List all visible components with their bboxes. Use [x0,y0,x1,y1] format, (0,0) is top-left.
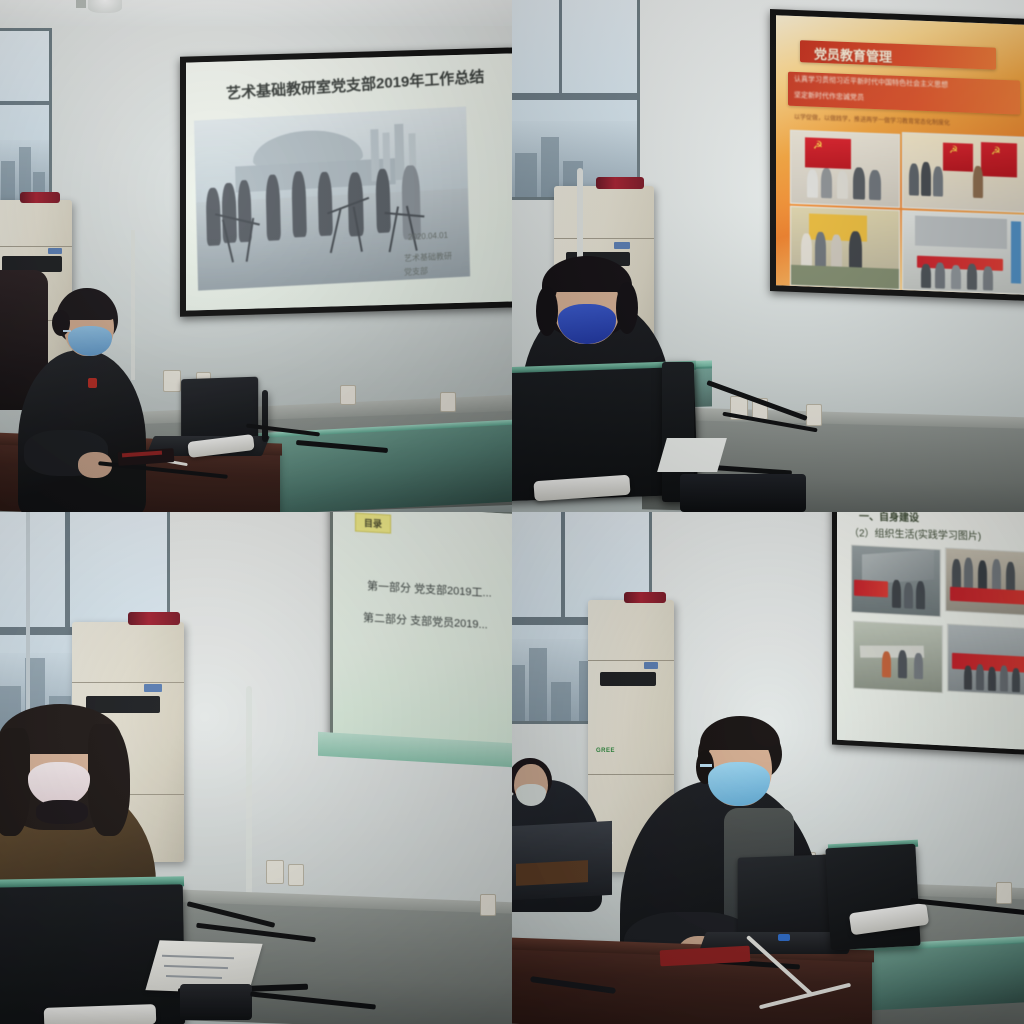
window-left [0,28,52,210]
ceiling-light [88,0,122,13]
wall-outlet[interactable] [806,404,822,426]
slide-photo: ☭ ☭ [902,132,1024,213]
slide-content: 党员教育管理 认真学习贯彻习近平新时代中国特色社会主义思想 坚定新时代作忠诚党员… [776,15,1024,295]
slide-heading: 党员教育管理 [814,44,892,66]
paper [657,438,727,472]
conduit-pipe [131,230,135,380]
projection-screen: 艺术基础教研室党支部2019年工作总结 [180,47,512,316]
laptop-screen[interactable] [181,377,258,442]
slide-title: 艺术基础教研室党支部2019年工作总结 [186,53,512,310]
conduit-pipe [246,686,252,896]
slide-title-text: 艺术基础教研室党支部2019年工作总结 [226,65,485,103]
slide-note: 以学促做，以做践学，推进两学一做学习教育常态化制度化 [794,112,950,127]
window [512,0,640,200]
slide-photo [853,621,943,694]
slide-photo [851,544,941,617]
device-box [680,474,806,512]
wall-outlet[interactable] [996,882,1012,904]
wall-outlet[interactable] [288,864,304,886]
slide-photo [947,624,1024,697]
adapter-box [180,984,252,1020]
scarf [36,800,88,824]
slide-photo [902,210,1024,295]
panel-top-right: 党员教育管理 认真学习贯彻习近平新时代中国特色社会主义思想 坚定新时代作忠诚党员… [512,0,1024,512]
wall-outlet[interactable] [480,894,496,916]
folder [516,860,588,886]
projection-screen: 党员教育管理 认真学习贯彻习近平新时代中国特色社会主义思想 坚定新时代作忠诚党员… [770,9,1024,301]
power-strip[interactable] [44,1004,157,1024]
slide-org-line2: 党支部 [404,266,428,278]
slide-photo: ☭ [790,130,900,208]
slide-photo [790,206,900,290]
wall-outlet[interactable] [340,385,356,405]
slide-item-2: 第二部分 支部党员2019... [363,609,488,632]
slide-tag: 目录 [355,513,391,534]
projection-screen: 一、自身建设 （2）组织生活(实践学习图片) [832,512,1024,756]
wall-outlet[interactable] [440,392,456,412]
panel-bottom-right: 一、自身建设 （2）组织生活(实践学习图片) [512,512,1024,1024]
panel-bottom-left: 目录 第一部分 党支部2019工... 第二部分 支部党员2019... GRE… [0,512,512,1024]
projection-screen: 目录 第一部分 党支部2019工... 第二部分 支部党员2019... [330,512,512,750]
slide-item-1: 第一部分 党支部2019工... [367,577,492,600]
slide-photos: 一、自身建设 （2）组织生活(实践学习图片) [837,512,1024,750]
monitor[interactable] [825,844,920,951]
slide-photo [194,106,470,290]
laptop-screen[interactable] [738,854,841,942]
slide-heading: 一、自身建设 [859,512,919,524]
monitor-edge [262,390,268,442]
wall-outlet[interactable] [266,860,284,884]
slide-agenda: 目录 第一部分 党支部2019工... 第二部分 支部党员2019... [333,512,512,747]
usb-connector [778,934,790,941]
ceiling-fixture [76,0,86,8]
slide-photo [945,547,1024,616]
slide-subheading: （2）组织生活(实践学习图片) [849,524,982,542]
wall-outlet[interactable] [163,370,181,392]
panel-top-left: 艺术基础教研室党支部2019年工作总结 [0,0,512,512]
photo-collage: 艺术基础教研室党支部2019年工作总结 [0,0,1024,1024]
party-badge [88,378,97,388]
window-divider [26,512,30,740]
